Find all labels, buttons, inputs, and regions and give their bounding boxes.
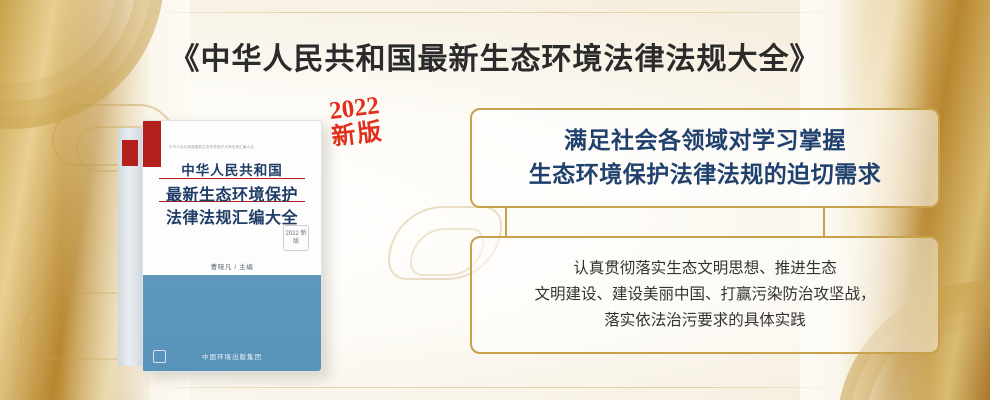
edition-badge: 2022 新版 xyxy=(307,91,405,155)
book-spine xyxy=(118,128,144,366)
description-line-1: 认真贯彻落实生态文明思想、推进生态 xyxy=(573,256,837,282)
top-divider xyxy=(140,12,850,13)
highlight-line-1: 满足社会各领域对学习掌握 xyxy=(564,124,846,158)
bottom-divider xyxy=(140,387,850,388)
book-cover: 中华人民共和国最新生态环境保护法律法规汇编大全 中华人民共和国 最新生态环境保护… xyxy=(142,120,322,372)
highlight-panel: 满足社会各领域对学习掌握 生态环境保护法律法规的迫切需求 xyxy=(470,108,940,208)
description-line-3: 落实依法治污要求的具体实践 xyxy=(604,308,806,334)
panel-connector-right xyxy=(823,208,825,236)
promo-banner: 《中华人民共和国最新生态环境法律法规大全》 中华人民共和国最新生态环境保护法律法… xyxy=(0,0,990,400)
book-image: 中华人民共和国最新生态环境保护法律法规汇编大全 中华人民共和国 最新生态环境保护… xyxy=(118,120,323,370)
description-panel: 认真贯彻落实生态文明思想、推进生态 文明建设、建设美丽中国、打赢污染防治攻坚战，… xyxy=(470,236,940,354)
panel-connector-left xyxy=(505,208,507,236)
book-spine-red-block xyxy=(122,140,138,166)
page-title: 《中华人民共和国最新生态环境法律法规大全》 xyxy=(0,34,990,78)
book-cover-edition-badge: 2022 新版 xyxy=(283,225,309,251)
highlight-line-2: 生态环境保护法律法规的迫切需求 xyxy=(529,158,882,192)
book-cover-line2: 最新生态环境保护 xyxy=(143,181,321,205)
book-cover-micro-text: 中华人民共和国最新生态环境保护法律法规汇编大全 xyxy=(169,145,309,150)
book-cover-blue-band: 中国环境出版集团 xyxy=(143,275,321,371)
book-cover-line1: 中华人民共和国 xyxy=(143,159,321,179)
book-cover-editor: 曹晓凡 / 主编 xyxy=(143,261,321,271)
book-cover-publisher: 中国环境出版集团 xyxy=(143,351,321,361)
description-line-2: 文明建设、建设美丽中国、打赢污染防治攻坚战， xyxy=(534,282,875,308)
